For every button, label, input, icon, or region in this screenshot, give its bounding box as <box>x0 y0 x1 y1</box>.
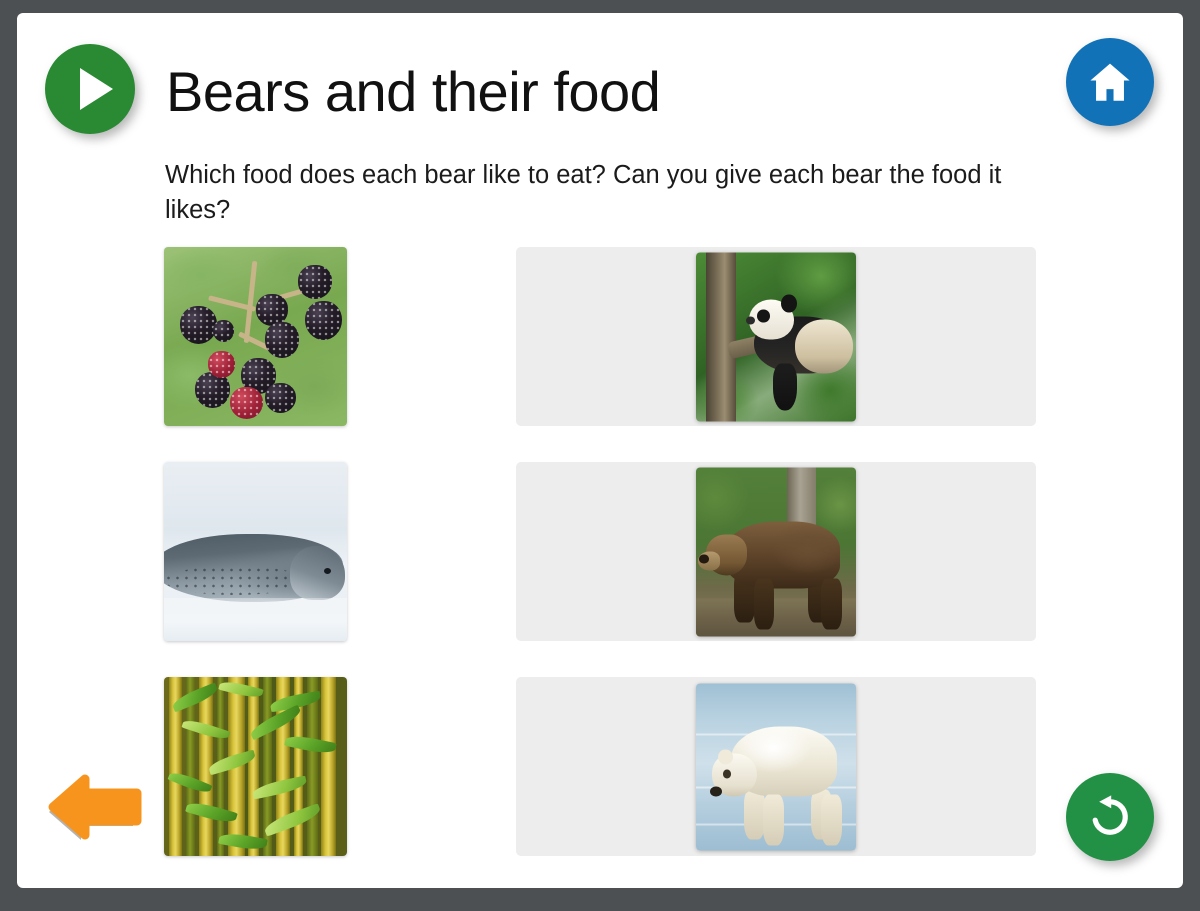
food-card-seal[interactable] <box>164 462 347 641</box>
home-icon <box>1085 57 1135 107</box>
seal-photo <box>164 462 347 641</box>
reset-button[interactable] <box>1066 773 1154 861</box>
brown-bear-photo <box>696 467 856 636</box>
polar-bear-photo <box>696 683 856 850</box>
device-frame: Bears and their food Which food does eac… <box>0 0 1200 911</box>
activity-grid <box>17 247 1183 888</box>
drop-zone-polar-bear[interactable] <box>516 677 1036 856</box>
drop-zone-panda[interactable] <box>516 247 1036 426</box>
arrow-left-icon <box>45 771 145 843</box>
back-button[interactable] <box>45 771 145 843</box>
food-card-blackberries[interactable] <box>164 247 347 426</box>
content-area: Bears and their food Which food does eac… <box>17 13 1183 888</box>
blackberries-photo <box>164 247 347 426</box>
activity-row <box>17 677 1183 856</box>
bear-card-panda[interactable] <box>696 252 856 421</box>
reset-icon <box>1086 793 1134 841</box>
page-title: Bears and their food <box>166 59 660 124</box>
panda-photo <box>696 252 856 421</box>
bear-card-polar-bear[interactable] <box>696 683 856 850</box>
bear-card-brown-bear[interactable] <box>696 467 856 636</box>
play-icon <box>80 68 113 110</box>
bamboo-photo <box>164 677 347 856</box>
tree-trunk <box>706 252 736 421</box>
food-card-bamboo[interactable] <box>164 677 347 856</box>
activity-row <box>17 247 1183 426</box>
page-header: Bears and their food <box>17 13 1183 148</box>
drop-zone-brown-bear[interactable] <box>516 462 1036 641</box>
instruction-text: Which food does each bear like to eat? C… <box>165 158 1015 228</box>
play-button[interactable] <box>45 44 135 134</box>
activity-row <box>17 462 1183 641</box>
home-button[interactable] <box>1066 38 1154 126</box>
